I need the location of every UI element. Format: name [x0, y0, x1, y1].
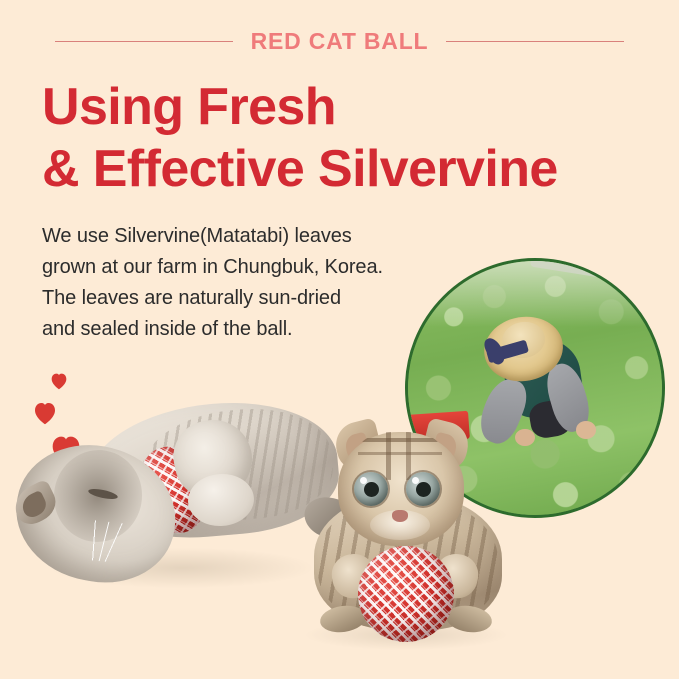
- red-cat-ball-kitten: [358, 546, 454, 642]
- gray-cat-whiskers: [86, 520, 170, 568]
- headline: Using Fresh & Effective Silvervine: [42, 76, 642, 200]
- headline-line-1: Using Fresh: [42, 76, 642, 138]
- gray-cat-photo: [0, 398, 342, 618]
- eyebrow-rule-right: [446, 41, 624, 42]
- kitten-left-eye-glint: [360, 477, 367, 484]
- body-line-3: The leaves are naturally sun-dried: [42, 283, 462, 314]
- body-line-2: grown at our farm in Chungbuk, Korea.: [42, 252, 462, 283]
- kitten-left-pupil: [364, 482, 379, 497]
- kitten-nose: [392, 510, 408, 522]
- eyebrow-rule-left: [55, 41, 233, 42]
- body-line-4: and sealed inside of the ball.: [42, 314, 462, 345]
- farmer-right-hand: [576, 421, 596, 439]
- eyebrow-row: RED CAT BALL: [0, 22, 679, 60]
- kitten-right-eye-glint: [412, 477, 419, 484]
- poster-canvas: RED CAT BALL Using Fresh & Effective Sil…: [0, 0, 679, 679]
- kitten-photo: [296, 414, 512, 648]
- kitten-right-pupil: [416, 482, 431, 497]
- headline-line-2: & Effective Silvervine: [42, 138, 642, 200]
- yarn-texture: [358, 546, 454, 642]
- heart-icon-small: [48, 370, 70, 392]
- body-copy: We use Silvervine(Matatabi) leaves grown…: [42, 221, 462, 345]
- body-line-1: We use Silvervine(Matatabi) leaves: [42, 221, 462, 252]
- brand-eyebrow-label: RED CAT BALL: [251, 30, 429, 53]
